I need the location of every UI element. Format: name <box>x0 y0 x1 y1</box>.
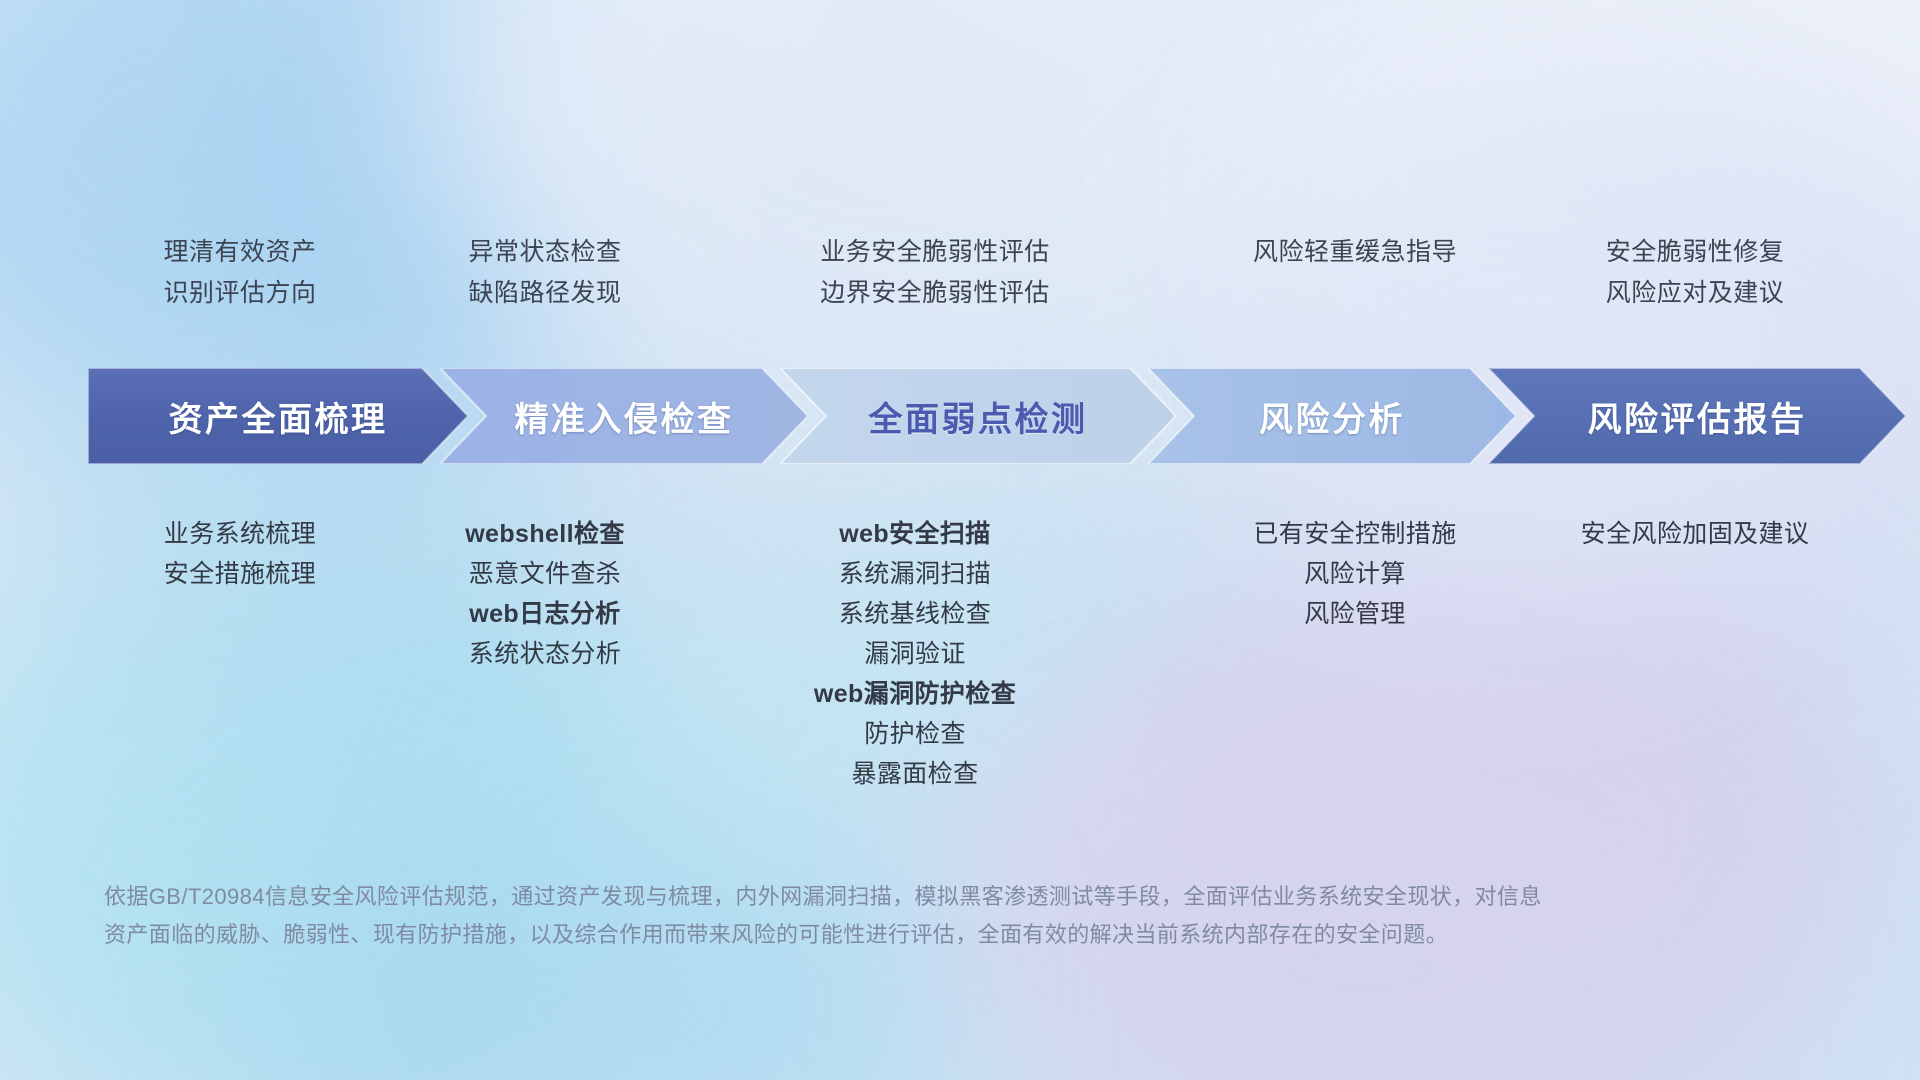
top-item: 缺陷路径发现 <box>390 273 700 314</box>
bottom-item: webshell检查 <box>390 514 700 554</box>
bottom-item: web日志分析 <box>390 594 700 634</box>
top-list-weakness-detection: 业务安全脆弱性评估 边界安全脆弱性评估 <box>720 232 1150 313</box>
bottom-item: 暴露面检查 <box>700 754 1130 794</box>
bottom-item: 风险计算 <box>1120 554 1590 594</box>
top-item: 风险应对及建议 <box>1490 273 1900 314</box>
stage-title: 精准入侵检查 <box>515 392 734 441</box>
top-item: 边界安全脆弱性评估 <box>720 273 1150 314</box>
bottom-list-asset-combing: 业务系统梳理 安全措施梳理 <box>50 514 430 594</box>
bottom-item: 系统基线检查 <box>700 594 1130 634</box>
bottom-item: 系统漏洞扫描 <box>700 554 1130 594</box>
bottom-item: 安全风险加固及建议 <box>1490 514 1900 554</box>
stage-title: 资产全面梳理 <box>169 392 388 441</box>
stage-chevron-weakness-detection[interactable]: 全面弱点检测 <box>780 368 1176 464</box>
footer-description: 依据GB/T20984信息安全风险评估规范，通过资产发现与梳理，内外网漏洞扫描，… <box>104 878 1824 954</box>
bottom-list-risk-report: 安全风险加固及建议 <box>1490 514 1900 554</box>
process-flow-diagram: 理清有效资产 识别评估方向 异常状态检查 缺陷路径发现 业务安全脆弱性评估 边界… <box>0 0 1920 1080</box>
top-list-asset-combing: 理清有效资产 识别评估方向 <box>50 232 430 313</box>
bottom-item: 恶意文件查杀 <box>390 554 700 594</box>
bottom-item: web漏洞防护检查 <box>700 674 1130 714</box>
bottom-item: 漏洞验证 <box>700 634 1130 674</box>
stage-chevron-asset-combing[interactable]: 资产全面梳理 <box>88 368 468 464</box>
bottom-list-intrusion-check: webshell检查 恶意文件查杀 web日志分析 系统状态分析 <box>390 514 700 674</box>
bottom-list-weakness-detection: web安全扫描 系统漏洞扫描 系统基线检查 漏洞验证 web漏洞防护检查 防护检… <box>700 514 1130 794</box>
bottom-item: 风险管理 <box>1120 594 1590 634</box>
bottom-item: 系统状态分析 <box>390 634 700 674</box>
bottom-item: 防护检查 <box>700 714 1130 754</box>
top-item: 业务安全脆弱性评估 <box>720 232 1150 273</box>
footer-line-2: 资产面临的威胁、脆弱性、现有防护措施，以及综合作用而带来风险的可能性进行评估，全… <box>104 916 1824 954</box>
stage-chevron-risk-analysis[interactable]: 风险分析 <box>1148 368 1516 464</box>
top-list-intrusion-check: 异常状态检查 缺陷路径发现 <box>390 232 700 313</box>
stage-chevron-risk-report[interactable]: 风险评估报告 <box>1488 368 1906 464</box>
top-item: 异常状态检查 <box>390 232 700 273</box>
stage-title: 风险评估报告 <box>1588 392 1807 441</box>
bottom-item: 安全措施梳理 <box>50 554 430 594</box>
top-item: 理清有效资产 <box>50 232 430 273</box>
bottom-item: web安全扫描 <box>700 514 1130 554</box>
top-item: 识别评估方向 <box>50 273 430 314</box>
top-item: 安全脆弱性修复 <box>1490 232 1900 273</box>
stage-title: 风险分析 <box>1259 392 1405 441</box>
stage-title: 全面弱点检测 <box>869 392 1088 441</box>
top-list-risk-report: 安全脆弱性修复 风险应对及建议 <box>1490 232 1900 313</box>
footer-line-1: 依据GB/T20984信息安全风险评估规范，通过资产发现与梳理，内外网漏洞扫描，… <box>104 878 1824 916</box>
bottom-item: 业务系统梳理 <box>50 514 430 554</box>
stage-chevron-intrusion-check[interactable]: 精准入侵检查 <box>440 368 808 464</box>
stage-chevron-band: 资产全面梳理 精准入侵检查 <box>88 368 1906 464</box>
